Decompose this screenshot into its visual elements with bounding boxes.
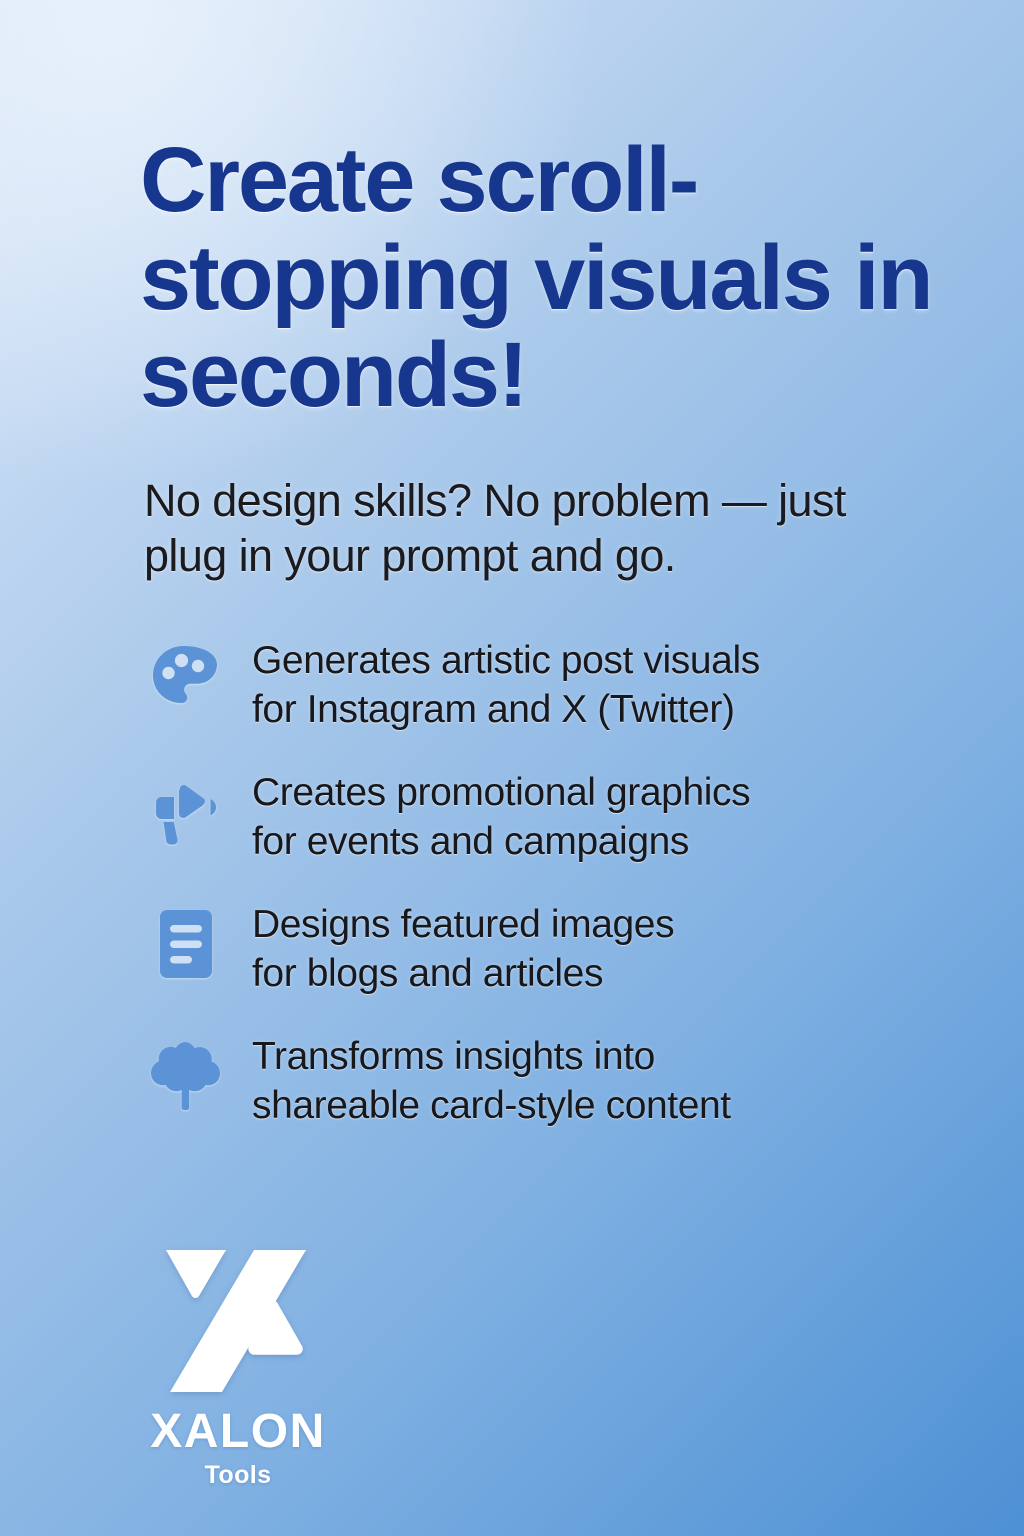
list-item-line-2: for blogs and articles xyxy=(252,952,603,995)
list-item-line-1: Creates promotional graphics xyxy=(252,771,750,814)
poster-canvas: Create scroll-stopping visuals in second… xyxy=(0,0,1024,1536)
x-monogram-icon xyxy=(162,1246,314,1396)
list-item: Generates artistic post visuals for Inst… xyxy=(144,634,944,742)
logo-wordmark: XALON xyxy=(150,1408,326,1456)
page-subtitle: No design skills? No problem — just plug… xyxy=(144,474,904,584)
logo-tagline: Tools xyxy=(205,1463,272,1488)
list-item: Creates promotional graphics for events … xyxy=(144,766,944,874)
list-item: Designs featured images for blogs and ar… xyxy=(144,898,944,1006)
brand-logo: XALON Tools xyxy=(118,1246,358,1488)
list-item-line-1: Generates artistic post visuals xyxy=(252,639,760,682)
list-item-line-1: Designs featured images xyxy=(252,903,674,946)
feature-list: Generates artistic post visuals for Inst… xyxy=(144,634,944,1138)
list-item-label: Generates artistic post visuals for Inst… xyxy=(252,634,760,734)
list-item: Transforms insights into shareable card-… xyxy=(144,1030,944,1138)
list-item-line-2: for events and campaigns xyxy=(252,820,689,863)
tree-icon xyxy=(144,1030,228,1122)
page-title: Create scroll-stopping visuals in second… xyxy=(140,132,940,425)
list-item-label: Transforms insights into shareable card-… xyxy=(252,1030,731,1130)
list-item-label: Designs featured images for blogs and ar… xyxy=(252,898,674,998)
list-item-line-2: for Instagram and X (Twitter) xyxy=(252,688,735,731)
megaphone-icon xyxy=(144,766,228,858)
list-item-line-2: shareable card-style content xyxy=(252,1084,731,1127)
list-item-label: Creates promotional graphics for events … xyxy=(252,766,750,866)
list-item-line-1: Transforms insights into xyxy=(252,1035,655,1078)
palette-icon xyxy=(144,634,228,726)
document-icon xyxy=(144,898,228,990)
